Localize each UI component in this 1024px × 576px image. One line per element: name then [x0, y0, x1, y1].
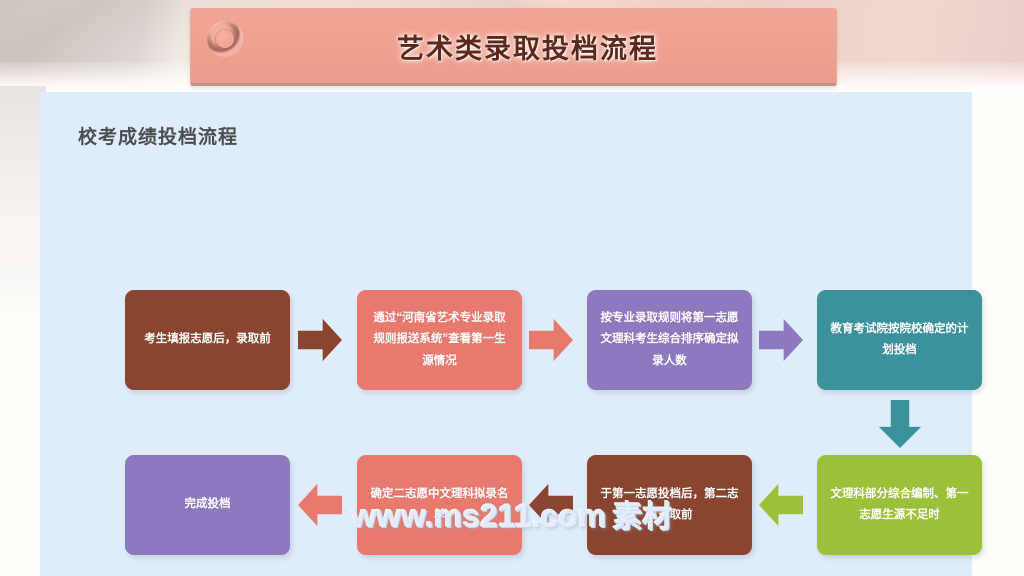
flow-node-step-5[interactable]: 文理科部分综合编制、第一志愿生源不足时: [817, 455, 982, 555]
flow-node-step-4[interactable]: 教育考试院按院校确定的计划投档: [817, 290, 982, 390]
flow-node-step-2[interactable]: 通过“河南省艺术专业录取规则报送系统”查看第一生源情况: [357, 290, 522, 390]
flow-node-step-8[interactable]: 完成投档: [125, 455, 290, 555]
watermark-suffix: 素材: [612, 501, 672, 534]
arrow-right-icon-2-3: [529, 317, 573, 363]
page-title: 艺术类录取投档流程: [191, 9, 836, 83]
arrow-down-icon-4-5: [877, 400, 923, 448]
watermark: www.ms211.com素材: [352, 492, 673, 536]
title-banner: 艺术类录取投档流程: [190, 8, 837, 86]
flow-node-step-1[interactable]: 考生填报志愿后，录取前: [125, 290, 290, 390]
flow-node-step-3[interactable]: 按专业录取规则将第一志愿文理科考生综合排序确定拟录人数: [587, 290, 752, 390]
arrow-left-icon-5-6: [759, 482, 803, 528]
watermark-url: www.ms211.com: [352, 498, 607, 534]
section-heading: 校考成绩投档流程: [78, 122, 238, 149]
arrow-right-icon-1-2: [298, 317, 342, 363]
arrow-right-icon-3-4: [759, 317, 803, 363]
arrow-left-icon-7-8: [298, 482, 342, 528]
